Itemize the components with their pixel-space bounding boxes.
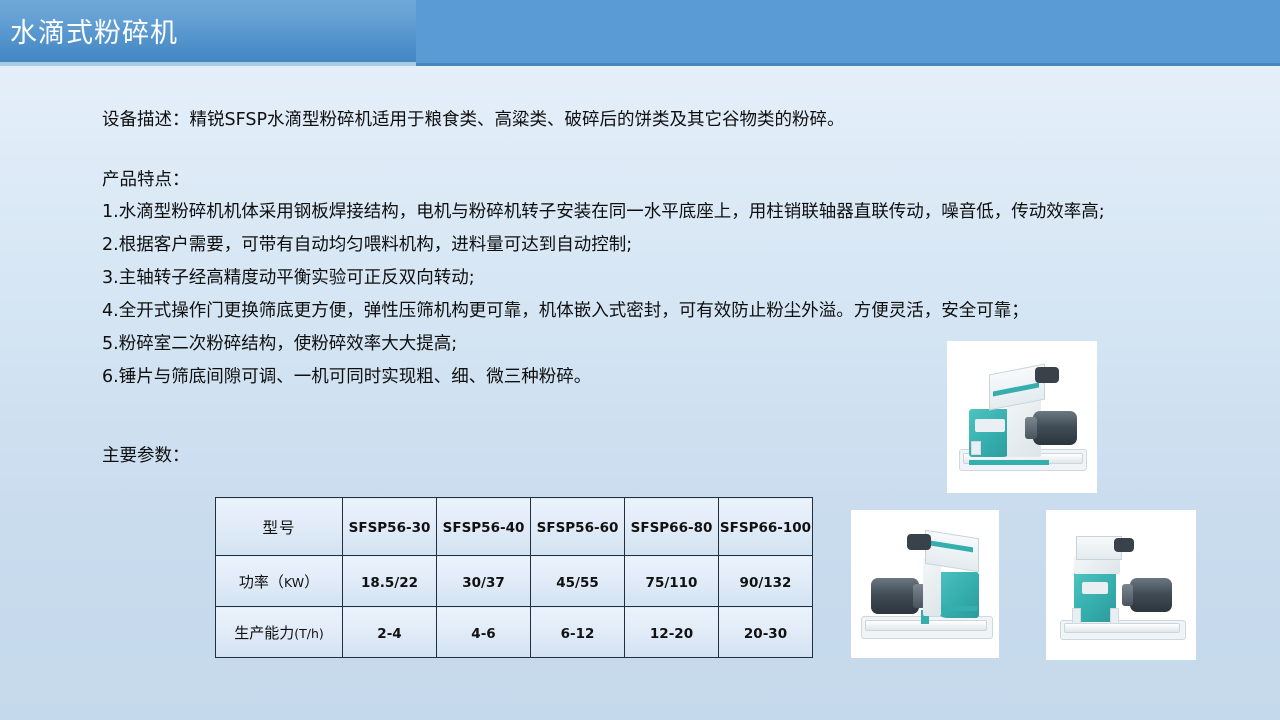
table-header-cell-2: SFSP56-40 (437, 498, 531, 556)
table-cell: 12-20 (625, 607, 719, 658)
hammer-mill-photo-top (947, 341, 1097, 493)
row-label-unit: (T/h) (294, 626, 324, 641)
table-cell: 75/110 (625, 556, 719, 607)
hammer-mill-photo-right (1046, 510, 1196, 660)
spec-table: 型号 SFSP56-30 SFSP56-40 SFSP56-60 SFSP66-… (215, 497, 813, 658)
feature-item-4: 4.全开式操作门更换筛底更方便，弹性压筛机构更可靠，机体嵌入式密封，可有效防止粉… (102, 295, 1192, 328)
table-header-label: 型号 (262, 519, 295, 537)
feature-item-2: 2.根据客户需要，可带有自动均匀喂料机构，进料量可达到自动控制; (102, 229, 1192, 262)
table-cell: 30/37 (437, 556, 531, 607)
table-header-cell-4: SFSP66-80 (625, 498, 719, 556)
table-cell: 20-30 (719, 607, 813, 658)
row-label-tail: ） (304, 573, 319, 591)
table-cell: 2-4 (343, 607, 437, 658)
table-cell: 90/132 (719, 556, 813, 607)
spacer (102, 136, 1192, 164)
table-row: 生产能力(T/h) 2-4 4-6 6-12 12-20 20-30 (216, 607, 813, 658)
machine-illustration (1046, 510, 1196, 660)
row-label-unit: KW (284, 575, 304, 590)
table-cell: 18.5/22 (343, 556, 437, 607)
feature-item-3: 3.主轴转子经高精度动平衡实验可正反双向转动; (102, 262, 1192, 295)
table-header-cell-1: SFSP56-30 (343, 498, 437, 556)
table-cell: 6-12 (531, 607, 625, 658)
page-title: 水滴式粉碎机 (10, 17, 178, 51)
table-row-label-power: 功率（KW） (216, 556, 343, 607)
header-right-block (415, 0, 1280, 66)
table-header-cell-5: SFSP66-100 (719, 498, 813, 556)
table-row: 功率（KW） 18.5/22 30/37 45/55 75/110 90/132 (216, 556, 813, 607)
row-label-main: 功率（ (239, 573, 284, 591)
equipment-description: 设备描述：精锐SFSP水滴型粉碎机适用于粮食类、高粱类、破碎后的饼类及其它谷物类… (102, 104, 1192, 136)
hammer-mill-photo-left (851, 510, 999, 658)
slide-header: 水滴式粉碎机 (0, 0, 1280, 70)
features-heading: 产品特点： (102, 164, 1192, 196)
table-cell: 45/55 (531, 556, 625, 607)
table-cell: 4-6 (437, 607, 531, 658)
table-row-label-capacity: 生产能力(T/h) (216, 607, 343, 658)
params-heading: 主要参数： (102, 442, 190, 470)
machine-illustration (947, 341, 1097, 493)
table-header-row: 型号 SFSP56-30 SFSP56-40 SFSP56-60 SFSP66-… (216, 498, 813, 556)
row-label-main: 生产能力 (234, 624, 294, 642)
machine-illustration (851, 510, 999, 658)
table-header-cell-3: SFSP56-60 (531, 498, 625, 556)
table-header-cell-model: 型号 (216, 498, 343, 556)
feature-item-1: 1.水滴型粉碎机机体采用钢板焊接结构，电机与粉碎机转子安装在同一水平底座上，用柱… (102, 196, 1192, 229)
